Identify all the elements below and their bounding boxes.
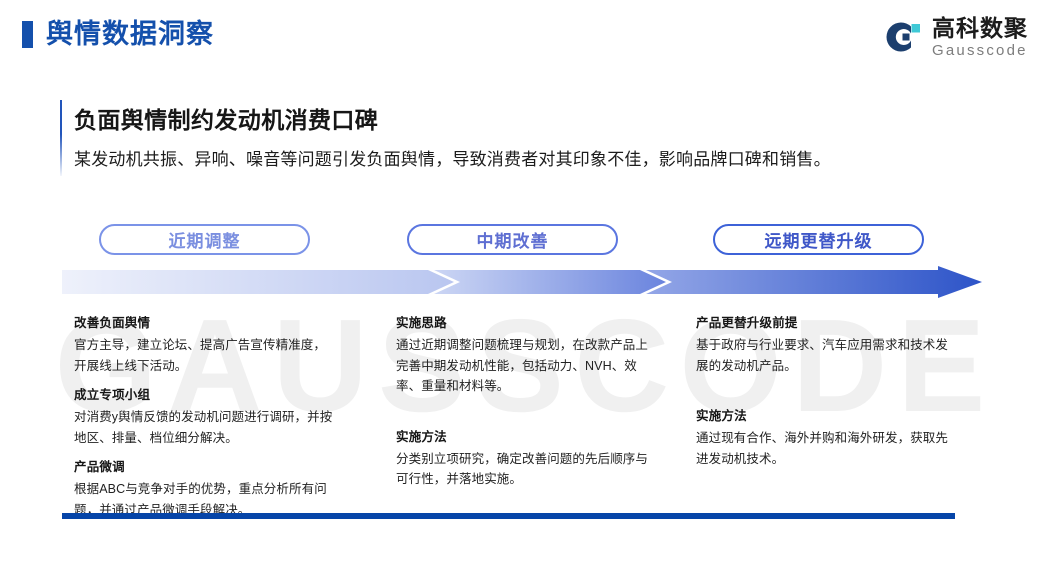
arrow-segment-2 xyxy=(434,270,666,294)
section-subtitle: 某发动机共振、异响、噪音等问题引发负面舆情，导致消费者对其印象不佳，影响品牌口碑… xyxy=(74,145,831,170)
brand-logo: 高科数聚 Gausscode xyxy=(881,14,1028,60)
content-block: 改善负面舆情 官方主导，建立论坛、提高广告宣传精准度，开展线上线下活动。 xyxy=(74,313,336,376)
title-accent-rule xyxy=(60,100,62,176)
stage-pill-label: 近期调整 xyxy=(169,227,241,252)
block-heading: 产品更替升级前提 xyxy=(696,313,958,333)
content-block: 产品微调 根据ABC与竞争对手的优势，重点分析所有问题，并通过产品微调手段解决。 xyxy=(74,457,336,520)
content-block: 实施方法 通过现有合作、海外并购和海外研发，获取先进发动机技术。 xyxy=(696,406,958,469)
stage-pill-label: 中期改善 xyxy=(477,227,549,252)
content-column-near-term: 改善负面舆情 官方主导，建立论坛、提高广告宣传精准度，开展线上线下活动。 成立专… xyxy=(74,313,336,529)
brand-name-cn: 高科数聚 xyxy=(932,17,1028,40)
content-block: 成立专项小组 对消费y舆情反馈的发动机问题进行调研，并按地区、排量、档位细分解决… xyxy=(74,385,336,448)
page-title: 舆情数据洞察 xyxy=(46,16,214,52)
block-body: 通过近期调整问题梳理与规划，在改款产品上完善中期发动机性能，包括动力、NVH、效… xyxy=(396,335,658,397)
block-body: 通过现有合作、海外并购和海外研发，获取先进发动机技术。 xyxy=(696,428,958,469)
header-bullet-icon xyxy=(22,21,33,48)
brand-name-en: Gausscode xyxy=(932,43,1028,58)
brand-logo-text: 高科数聚 Gausscode xyxy=(932,17,1028,58)
block-heading: 成立专项小组 xyxy=(74,385,336,405)
content-block: 实施方法 分类别立项研究，确定改善问题的先后顺序与可行性，并落地实施。 xyxy=(396,427,658,490)
block-heading: 实施思路 xyxy=(396,313,658,333)
block-body: 官方主导，建立论坛、提高广告宣传精准度，开展线上线下活动。 xyxy=(74,335,336,376)
block-heading: 改善负面舆情 xyxy=(74,313,336,333)
section-title: 负面舆情制约发动机消费口碑 xyxy=(74,101,378,135)
arrow-segment-1 xyxy=(62,270,454,294)
arrow-segment-3 xyxy=(646,266,982,298)
content-column-long-term: 产品更替升级前提 基于政府与行业要求、汽车应用需求和技术发展的发动机产品。 实施… xyxy=(696,313,958,478)
block-heading: 实施方法 xyxy=(396,427,658,447)
stage-pill-near-term[interactable]: 近期调整 xyxy=(99,224,310,255)
block-heading: 产品微调 xyxy=(74,457,336,477)
content-block: 实施思路 通过近期调整问题梳理与规划，在改款产品上完善中期发动机性能，包括动力、… xyxy=(396,313,658,397)
stage-pill-label: 远期更替升级 xyxy=(765,227,873,252)
stage-pill-mid-term[interactable]: 中期改善 xyxy=(407,224,618,255)
timeline-arrow-band xyxy=(62,266,982,298)
block-body: 对消费y舆情反馈的发动机问题进行调研，并按地区、排量、档位细分解决。 xyxy=(74,407,336,448)
block-body: 基于政府与行业要求、汽车应用需求和技术发展的发动机产品。 xyxy=(696,335,958,376)
slide-root: GAUSSCODE 舆情数据洞察 高科数聚 Gausscode 负面舆情制约发动… xyxy=(0,0,1050,588)
stage-pill-long-term[interactable]: 远期更替升级 xyxy=(713,224,924,255)
block-body: 分类别立项研究，确定改善问题的先后顺序与可行性，并落地实施。 xyxy=(396,449,658,490)
content-block: 产品更替升级前提 基于政府与行业要求、汽车应用需求和技术发展的发动机产品。 xyxy=(696,313,958,376)
block-heading: 实施方法 xyxy=(696,406,958,426)
footer-rule xyxy=(62,513,955,519)
gausscode-logo-icon xyxy=(881,16,923,58)
content-column-mid-term: 实施思路 通过近期调整问题梳理与规划，在改款产品上完善中期发动机性能，包括动力、… xyxy=(396,313,658,499)
slide-header: 舆情数据洞察 高科数聚 Gausscode xyxy=(0,0,1050,72)
